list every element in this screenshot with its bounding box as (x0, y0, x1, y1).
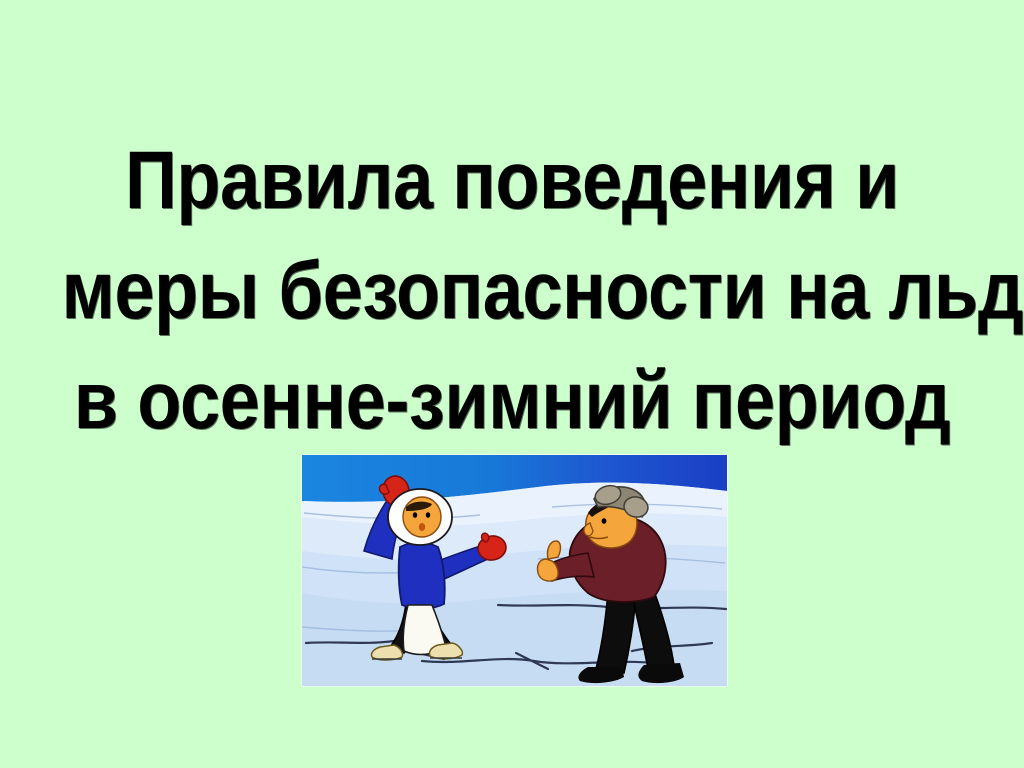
adult-boot-front (638, 663, 684, 683)
adult-eye (602, 518, 607, 524)
child-eye-left (413, 512, 417, 518)
presentation-slide: Правила поведения и меры безопасности на… (0, 0, 1024, 768)
child-mouth (419, 523, 425, 531)
title-line-1: Правила поведения и (61, 126, 962, 236)
slide-title: Правила поведения и меры безопасности на… (0, 126, 1024, 456)
child-coat (399, 543, 445, 609)
child-eye-right (426, 512, 430, 518)
illustration-canvas (302, 455, 727, 686)
title-line-2: меры безопасности на льду (61, 236, 962, 346)
ice-safety-illustration (302, 455, 727, 686)
title-line-3: в осенне-зимний период (61, 346, 962, 456)
